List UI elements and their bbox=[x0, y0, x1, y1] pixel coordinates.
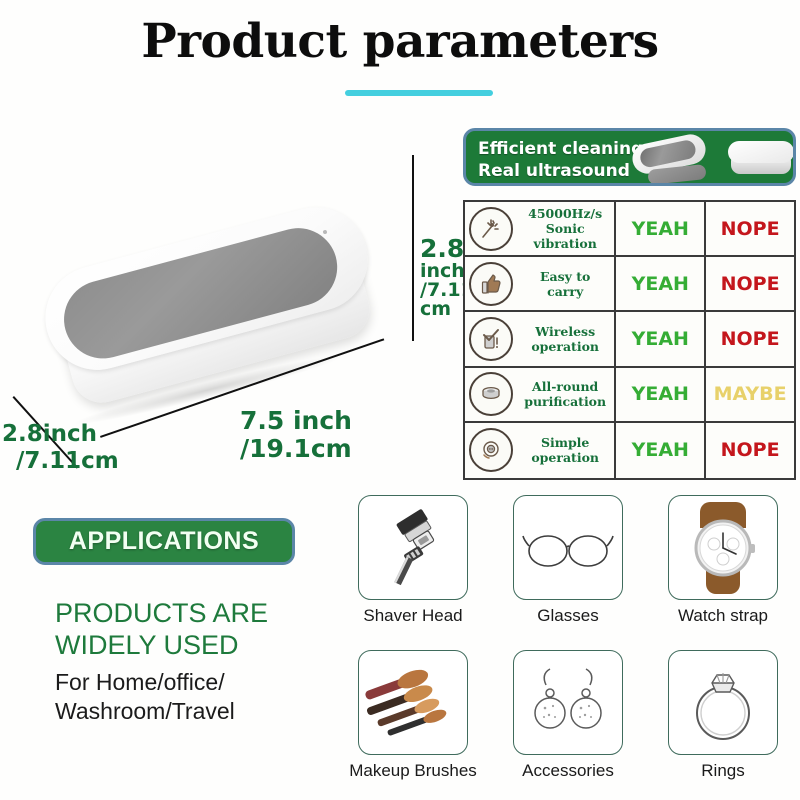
product-indicator-dot bbox=[323, 230, 328, 235]
theirs-cell: MAYBE bbox=[706, 368, 794, 421]
feature-line-2: operation bbox=[516, 339, 614, 354]
feature-line-2: operation bbox=[516, 450, 614, 465]
card-label: Glasses bbox=[513, 606, 623, 626]
application-card-accessories: Accessories bbox=[513, 650, 623, 781]
applications-headline-line-1: PRODUCTS ARE bbox=[55, 598, 355, 630]
card-label: Rings bbox=[668, 761, 778, 781]
wireless-check-icon bbox=[469, 317, 513, 361]
feature-line-2: Sonic vibration bbox=[516, 221, 614, 251]
feature-line-1: 45000Hz/s bbox=[516, 206, 614, 221]
feature-cell: 45000Hz/s Sonic vibration bbox=[465, 202, 616, 255]
thumbs-up-icon bbox=[469, 262, 513, 306]
application-card-glasses: Glasses bbox=[513, 495, 623, 626]
feature-line-1: Simple bbox=[516, 435, 614, 450]
card-image-box bbox=[513, 495, 623, 600]
table-row: Wireless operation YEAH NOPE bbox=[465, 312, 794, 367]
sonic-vibration-icon bbox=[469, 207, 513, 251]
application-card-watch-strap: Watch strap bbox=[668, 495, 778, 626]
application-card-shaver-head: Shaver Head bbox=[358, 495, 468, 626]
banner-line-2: Real ultrasound bbox=[478, 160, 643, 182]
efficient-cleaning-banner: Efficient cleaning Real ultrasound bbox=[463, 128, 796, 186]
feature-text: Simple operation bbox=[516, 435, 614, 465]
feature-line-1: All-round bbox=[516, 379, 614, 394]
theirs-cell: NOPE bbox=[706, 312, 794, 365]
feature-text: 45000Hz/s Sonic vibration bbox=[516, 206, 614, 251]
applications-badge: APPLICATIONS bbox=[33, 518, 295, 565]
applications-headline-line-2: WIDELY USED bbox=[55, 630, 355, 662]
comparison-table: 45000Hz/s Sonic vibration YEAH NOPE Easy… bbox=[463, 200, 796, 480]
card-label: Watch strap bbox=[668, 606, 778, 626]
applications-subtext: For Home/office/ Washroom/Travel bbox=[55, 668, 375, 727]
banner-closed-cleaner-image bbox=[728, 141, 794, 177]
dimension-depth-line1: 2.8inch bbox=[2, 421, 97, 447]
card-image-box bbox=[513, 650, 623, 755]
card-label: Shaver Head bbox=[340, 606, 486, 626]
title-underline-bar bbox=[345, 90, 493, 96]
applications-headline: PRODUCTS ARE WIDELY USED bbox=[55, 598, 355, 662]
dimension-depth-line2: /7.11cm bbox=[16, 450, 119, 473]
feature-cell: Easy to carry bbox=[465, 257, 616, 310]
theirs-cell: NOPE bbox=[706, 257, 794, 310]
feature-cell: Simple operation bbox=[465, 423, 616, 478]
dimension-depth-label: 2.8inch /7.11cm bbox=[2, 423, 119, 474]
banner-line-1: Efficient cleaning bbox=[478, 138, 643, 160]
makeup-brushes-icon bbox=[363, 662, 463, 744]
dimension-width-line2: /19.1cm bbox=[240, 436, 352, 462]
ring-icon bbox=[681, 657, 765, 749]
ours-cell: YEAH bbox=[616, 423, 706, 478]
feature-text: Easy to carry bbox=[516, 269, 614, 299]
feature-line-1: Easy to bbox=[516, 269, 614, 284]
dimension-height-value: 2.8 bbox=[420, 234, 464, 263]
feature-line-2: carry bbox=[516, 284, 614, 299]
ours-cell: YEAH bbox=[616, 368, 706, 421]
glasses-icon bbox=[521, 518, 615, 578]
watch-strap-icon bbox=[684, 498, 762, 598]
card-label: Makeup Brushes bbox=[340, 761, 486, 781]
feature-line-1: Wireless bbox=[516, 324, 614, 339]
feature-cell: Wireless operation bbox=[465, 312, 616, 365]
ours-cell: YEAH bbox=[616, 312, 706, 365]
theirs-cell: NOPE bbox=[706, 423, 794, 478]
banner-text: Efficient cleaning Real ultrasound bbox=[478, 138, 643, 183]
feature-cell: All-round purification bbox=[465, 368, 616, 421]
ours-cell: YEAH bbox=[616, 202, 706, 255]
product-photo bbox=[8, 170, 418, 460]
card-label: Accessories bbox=[513, 761, 623, 781]
applications-badge-label: APPLICATIONS bbox=[69, 527, 259, 556]
table-row: Simple operation YEAH NOPE bbox=[465, 423, 794, 478]
feature-text: All-round purification bbox=[516, 379, 614, 409]
card-image-box bbox=[358, 650, 468, 755]
card-image-box bbox=[668, 495, 778, 600]
application-card-makeup-brushes: Makeup Brushes bbox=[358, 650, 468, 781]
applications-subtext-line-2: Washroom/Travel bbox=[55, 697, 375, 726]
application-cards: Shaver Head Glasses bbox=[358, 495, 800, 795]
height-measure-line bbox=[412, 155, 414, 341]
purification-bowl-icon bbox=[469, 372, 513, 416]
earrings-icon bbox=[528, 657, 608, 749]
infographic-page: Product parameters 2.8 inch /7.11 cm 2.8… bbox=[0, 0, 800, 800]
feature-line-2: purification bbox=[516, 394, 614, 409]
simple-operation-icon bbox=[469, 428, 513, 472]
application-card-rings: Rings bbox=[668, 650, 778, 781]
shaver-head-icon bbox=[367, 505, 459, 591]
page-title: Product parameters bbox=[0, 14, 800, 69]
feature-text: Wireless operation bbox=[516, 324, 614, 354]
table-row: Easy to carry YEAH NOPE bbox=[465, 257, 794, 312]
dimension-width-label: 7.5 inch /19.1cm bbox=[240, 408, 352, 461]
card-image-box bbox=[358, 495, 468, 600]
dimension-width-line1: 7.5 inch bbox=[240, 406, 352, 435]
card-image-box bbox=[668, 650, 778, 755]
table-row: All-round purification YEAH MAYBE bbox=[465, 368, 794, 423]
applications-subtext-line-1: For Home/office/ bbox=[55, 668, 375, 697]
table-row: 45000Hz/s Sonic vibration YEAH NOPE bbox=[465, 202, 794, 257]
theirs-cell: NOPE bbox=[706, 202, 794, 255]
ours-cell: YEAH bbox=[616, 257, 706, 310]
